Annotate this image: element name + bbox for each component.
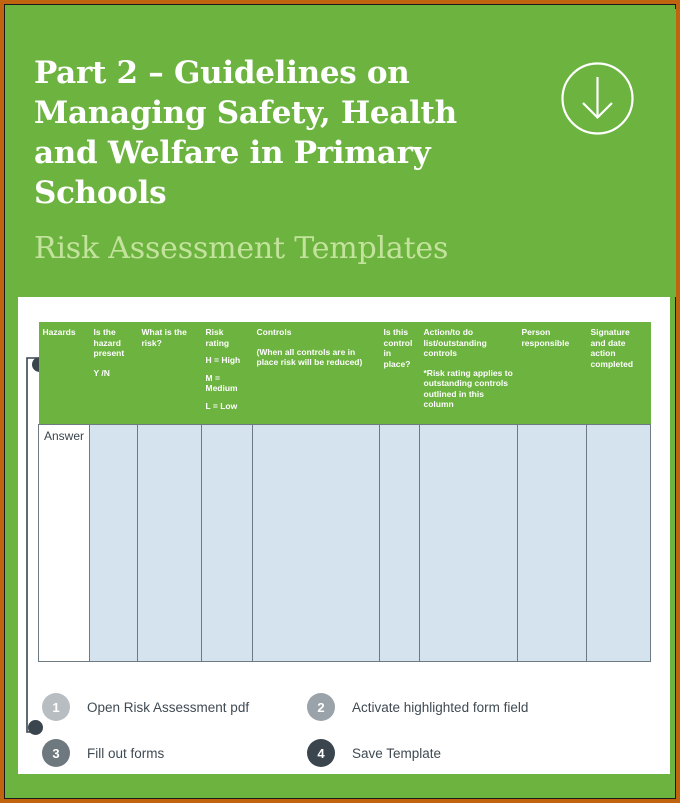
hero-banner: Part 2 – Guidelines on Managing Safety, …: [9, 9, 679, 297]
step-item-1[interactable]: 1 Open Risk Assessment pdf: [42, 693, 307, 721]
steps-row-2: 3 Fill out forms 4 Save Template: [42, 730, 642, 776]
header-title: Controls: [257, 327, 292, 337]
cell-answer-label: Answer: [39, 425, 90, 662]
download-arrow-circle-icon[interactable]: [560, 61, 635, 136]
table-row: Answer: [39, 425, 651, 662]
header-title: Is this control in place?: [384, 327, 413, 369]
header-title: Hazards: [43, 327, 76, 337]
column-header-signature-date: Signature and date action completed: [587, 322, 651, 425]
steps-row-1: 1 Open Risk Assessment pdf 2 Activate hi…: [42, 684, 642, 730]
bracket-dot-bottom: [28, 720, 43, 735]
header-title: Person responsible: [522, 327, 570, 348]
page-title: Part 2 – Guidelines on Managing Safety, …: [34, 53, 514, 213]
header-title: Action/to do list/outstanding controls: [424, 327, 487, 358]
header-sub-low: L = Low: [206, 401, 249, 412]
form-field-control-in-place[interactable]: [380, 425, 420, 662]
step-item-4[interactable]: 4 Save Template: [307, 739, 572, 767]
form-field-risk-rating[interactable]: [202, 425, 253, 662]
column-header-person-responsible: Person responsible: [518, 322, 587, 425]
column-header-hazard-present: Is the hazard present Y /N: [90, 322, 138, 425]
step-item-2[interactable]: 2 Activate highlighted form field: [307, 693, 572, 721]
form-field-hazard-present[interactable]: [90, 425, 138, 662]
step-label-1: Open Risk Assessment pdf: [87, 700, 249, 715]
header-title: Is the hazard present: [94, 327, 125, 358]
header-sub-high: H = High: [206, 355, 249, 366]
form-field-signature-date[interactable]: [587, 425, 651, 662]
header-sub: (When all controls are in place risk wil…: [257, 347, 376, 368]
risk-assessment-table: Hazards Is the hazard present Y /N What …: [38, 322, 651, 662]
column-header-hazards: Hazards: [39, 322, 90, 425]
risk-assessment-template-page: Part 2 – Guidelines on Managing Safety, …: [0, 0, 680, 803]
step-label-2: Activate highlighted form field: [352, 700, 528, 715]
header-sub: *Risk rating applies to outstanding cont…: [424, 368, 514, 410]
header-title: What is the risk?: [142, 327, 187, 348]
step-badge-4: 4: [307, 739, 335, 767]
header-title: Risk rating: [206, 327, 230, 348]
steps-legend: 1 Open Risk Assessment pdf 2 Activate hi…: [42, 684, 642, 776]
header-title: Signature and date action completed: [591, 327, 634, 369]
column-header-action-todo-list: Action/to do list/outstanding controls *…: [420, 322, 518, 425]
header-sub-medium: M = Medium: [206, 373, 249, 394]
column-header-control-in-place: Is this control in place?: [380, 322, 420, 425]
column-header-controls: Controls (When all controls are in place…: [253, 322, 380, 425]
step-badge-3: 3: [42, 739, 70, 767]
form-field-person-responsible[interactable]: [518, 425, 587, 662]
form-field-what-is-the-risk[interactable]: [138, 425, 202, 662]
form-field-action-todo-list[interactable]: [420, 425, 518, 662]
column-header-risk-rating: Risk rating H = High M = Medium L = Low: [202, 322, 253, 425]
page-subtitle: Risk Assessment Templates: [34, 231, 448, 267]
step-badge-1: 1: [42, 693, 70, 721]
step-label-4: Save Template: [352, 746, 441, 761]
form-field-controls[interactable]: [253, 425, 380, 662]
step-badge-2: 2: [307, 693, 335, 721]
column-header-what-is-the-risk: What is the risk?: [138, 322, 202, 425]
step-label-3: Fill out forms: [87, 746, 164, 761]
step-item-3[interactable]: 3 Fill out forms: [42, 739, 307, 767]
table-header-row: Hazards Is the hazard present Y /N What …: [39, 322, 651, 425]
header-sub: Y /N: [94, 368, 134, 379]
